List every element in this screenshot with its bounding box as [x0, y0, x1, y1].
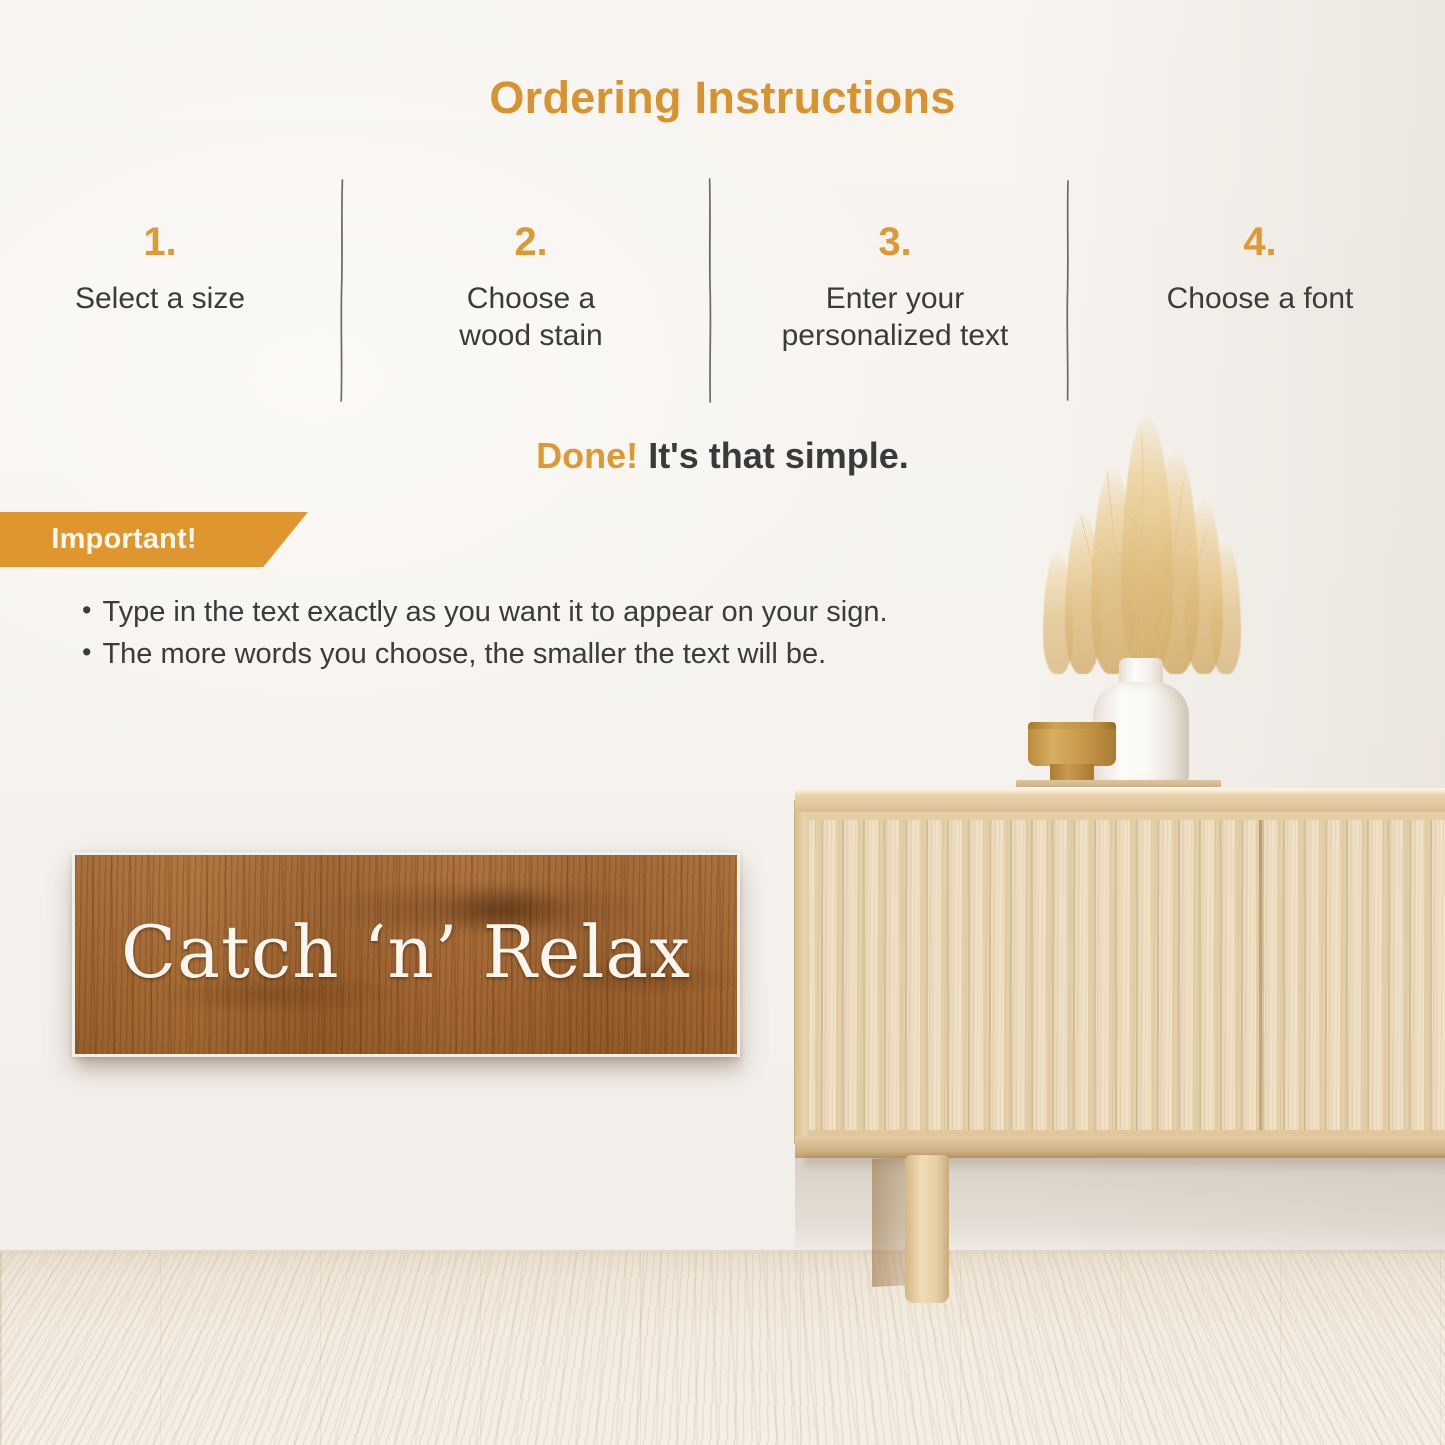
step-divider-2	[705, 178, 715, 403]
list-item: • The more words you choose, the smaller…	[82, 634, 1082, 676]
pampas-plume-detail	[1035, 412, 1250, 674]
step-3-label: Enter yourpersonalized text	[745, 280, 1045, 354]
bullet-text: Type in the text exactly as you want it …	[102, 592, 887, 634]
step-divider-3	[1063, 178, 1073, 403]
product-infographic: Ordering Instructions 1. Select a size 2…	[0, 0, 1445, 1445]
step-1: 1. Select a size	[30, 222, 290, 317]
wood-floor	[0, 1252, 1445, 1445]
important-bullet-list: • Type in the text exactly as you want i…	[82, 592, 1082, 676]
bullet-marker-icon: •	[82, 592, 91, 628]
page-title: Ordering Instructions	[0, 72, 1445, 124]
step-4: 4. Choose a font	[1115, 222, 1405, 317]
cabinet-door-seam	[1259, 820, 1262, 1130]
cabinet-leg	[905, 1155, 949, 1303]
step-4-label: Choose a font	[1115, 280, 1405, 317]
slat-grain-texture	[807, 820, 1445, 1130]
bowl-rim	[1028, 722, 1116, 729]
cabinet-bottom-rail	[795, 1136, 1445, 1158]
floor-plank-lines	[0, 1252, 1445, 1445]
sign-personalized-text: Catch ‘n’ Relax	[75, 855, 737, 1054]
divider-sketch-line-1	[337, 178, 347, 403]
step-4-number: 4.	[1115, 222, 1405, 262]
ochre-bowl	[1028, 722, 1116, 784]
bullet-marker-icon: •	[82, 634, 91, 670]
done-highlight: Done!	[536, 435, 638, 476]
done-rest: It's that simple.	[648, 435, 909, 476]
step-2-label: Choose awood stain	[400, 280, 662, 354]
step-3: 3. Enter yourpersonalized text	[745, 222, 1045, 354]
cabinet-left-frame	[795, 812, 809, 1142]
list-item: • Type in the text exactly as you want i…	[82, 592, 1082, 634]
steps-row: 1. Select a size 2. Choose awood stain 3…	[0, 222, 1445, 402]
cabinet-door-panels	[807, 820, 1445, 1130]
divider-sketch-line-3	[1063, 178, 1073, 403]
step-3-number: 3.	[745, 222, 1045, 262]
step-1-number: 1.	[30, 222, 290, 262]
cabinet-top-surface	[795, 788, 1445, 814]
step-divider-1	[337, 178, 347, 403]
cabinet-body	[795, 812, 1445, 1142]
dried-pampas-grass	[1035, 412, 1250, 674]
step-2: 2. Choose awood stain	[400, 222, 662, 354]
step-2-number: 2.	[400, 222, 662, 262]
divider-sketch-line-2	[705, 178, 715, 403]
step-1-label: Select a size	[30, 280, 290, 317]
bullet-text: The more words you choose, the smaller t…	[102, 634, 826, 676]
cabinet-top-highlight	[795, 788, 1445, 795]
important-banner: Important!	[0, 512, 308, 567]
banner-label: Important!	[0, 512, 260, 567]
fluted-sideboard	[795, 788, 1445, 1163]
wood-sign-product: Catch ‘n’ Relax	[72, 852, 740, 1057]
